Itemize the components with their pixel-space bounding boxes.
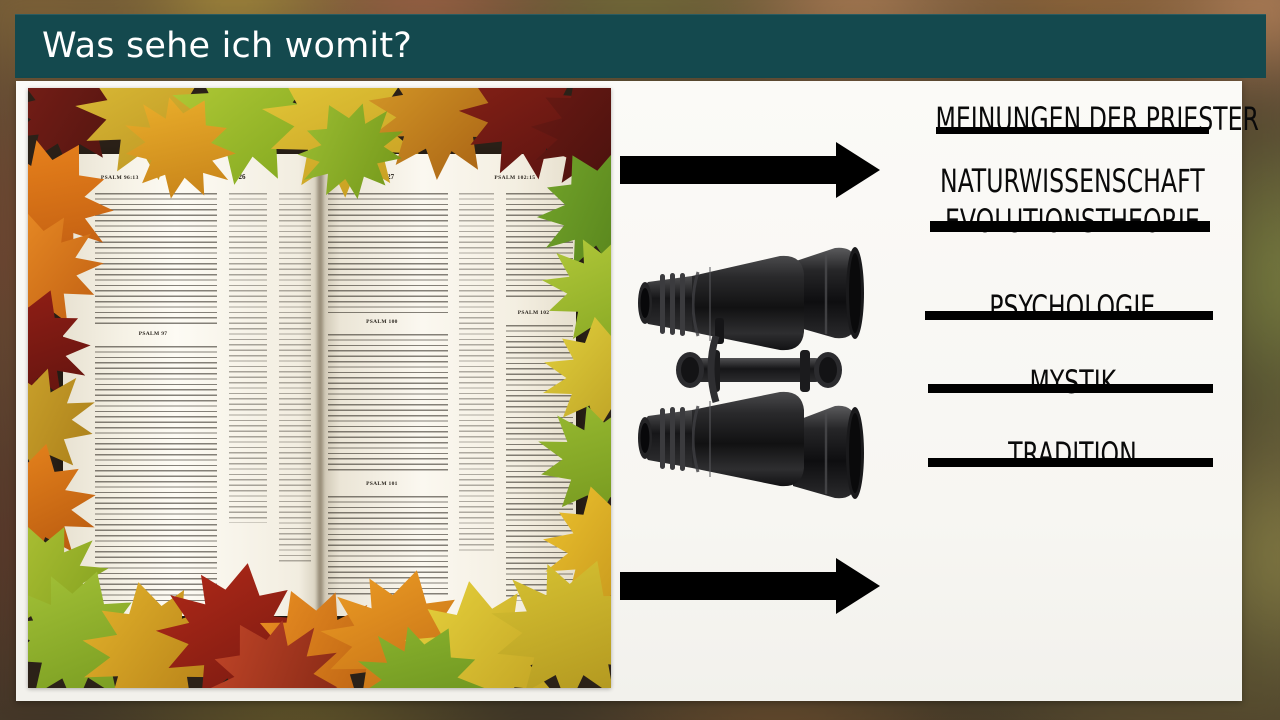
right-page-header: PSALM 102:15 (494, 175, 535, 181)
bible-photo: PSALM 96:13 526 PSALM 102:15 527 PSALM 9… (28, 88, 611, 688)
title-bar: Was sehe ich womit? (15, 14, 1266, 78)
concepts-list: MEINUNGEN DER PRIESTER NATURWISSENSCHAFT… (900, 90, 1245, 490)
arrow-bottom (620, 558, 880, 614)
text-column-notes (459, 193, 494, 553)
binoculars-svg (630, 240, 900, 515)
strikethrough-bar (925, 311, 1213, 320)
text-column (328, 334, 448, 472)
psalm-heading: PSALM 100 (366, 319, 398, 325)
text-column (95, 193, 217, 325)
text-column (506, 193, 573, 301)
arrow-shaft (620, 156, 836, 184)
binocular-barrel-bottom (638, 392, 864, 499)
strikethrough-bar (930, 221, 1210, 232)
arrow-shaft (620, 572, 836, 600)
text-column-notes (279, 193, 311, 565)
list-item[interactable]: NATURWISSENSCHAFT (900, 162, 1245, 200)
list-item-label: PSYCHOLOGIE (989, 288, 1155, 326)
list-item[interactable]: MYSTIK (900, 363, 1245, 401)
binoculars-image (630, 240, 900, 515)
text-column (506, 325, 573, 601)
list-item-label: MYSTIK (1029, 363, 1116, 401)
right-page-number: 527 (384, 173, 395, 181)
list-item[interactable]: TRADITION (900, 435, 1245, 473)
slide: Was sehe ich womit? PSALM 96:13 526 PSAL… (0, 0, 1280, 720)
text-column (95, 346, 217, 604)
list-item[interactable]: PSYCHOLOGIE (900, 288, 1245, 326)
strikethrough-bar (928, 384, 1213, 393)
binocular-bridge (676, 336, 842, 402)
psalm-heading: PSALM 97 (139, 331, 168, 337)
arrow-top (620, 142, 880, 198)
list-item[interactable]: EVOLUTIONSTHEORIE (900, 202, 1245, 240)
text-column (328, 193, 448, 313)
list-item-label: NATURWISSENSCHAFT (940, 162, 1205, 200)
psalm-heading: PSALM 101 (366, 481, 398, 487)
left-page-header: PSALM 96:13 (101, 175, 139, 181)
list-item-label: TRADITION (1008, 435, 1137, 473)
arrow-head (836, 558, 880, 614)
arrow-head (836, 142, 880, 198)
text-column-notes (229, 193, 267, 523)
list-item[interactable]: MEINUNGEN DER PRIESTER (900, 100, 1245, 138)
left-page-number: 526 (235, 173, 246, 181)
page-title: Was sehe ich womit? (42, 26, 412, 66)
binocular-barrel-top (638, 247, 864, 350)
strikethrough-bar (936, 127, 1209, 134)
text-column (328, 496, 448, 598)
strikethrough-bar (928, 458, 1213, 467)
bible-gutter (315, 154, 324, 616)
psalm-heading: PSALM 102 (518, 310, 550, 316)
